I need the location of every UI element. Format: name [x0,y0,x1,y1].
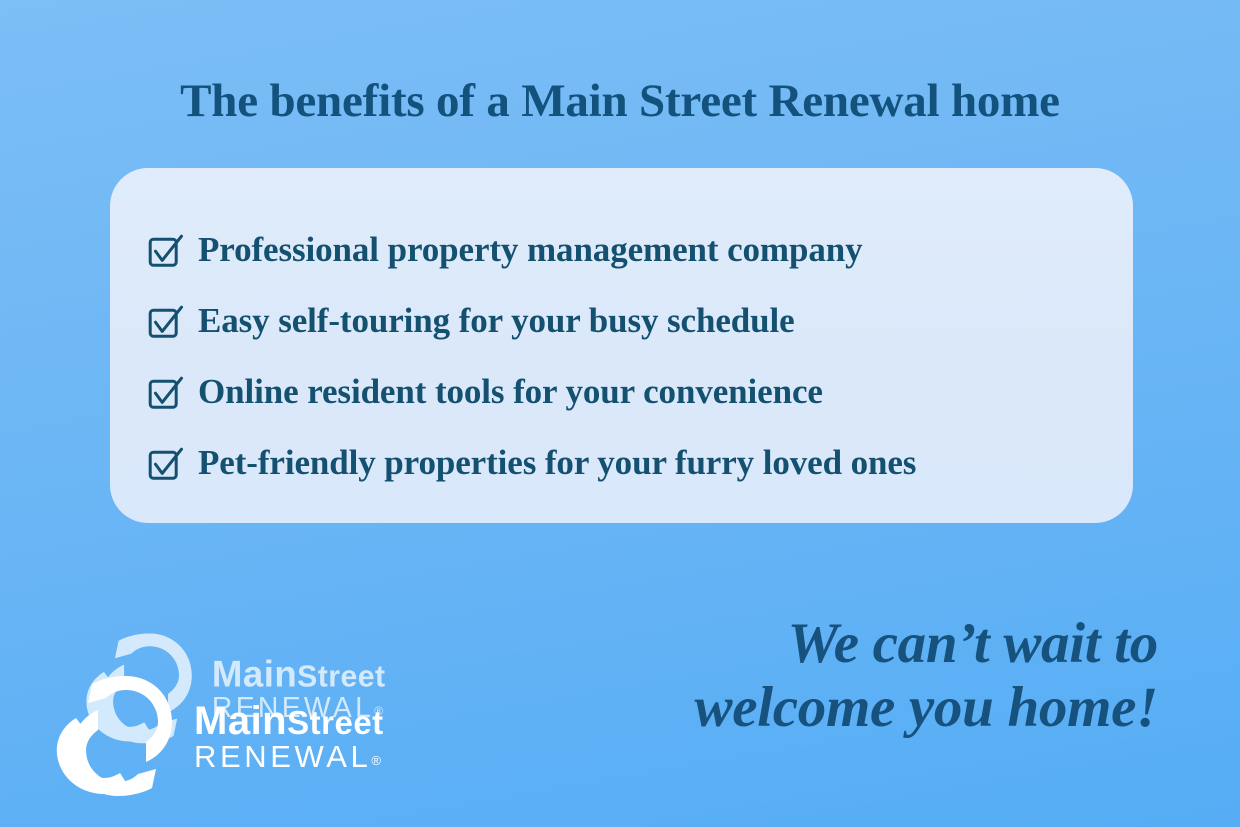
checked-box-icon [148,376,182,410]
list-item-label: Online resident tools for your convenien… [198,372,823,412]
tagline: We can’t wait to welcome you home! [538,612,1158,740]
checked-box-icon [148,305,182,339]
checked-box-icon [148,234,182,268]
checked-box-icon [148,447,182,481]
registered-trademark-mark: ® [371,753,381,768]
list-item: Easy self-touring for your busy schedule [110,285,1133,356]
list-item-label: Pet-friendly properties for your furry l… [198,443,916,483]
brand-logo: MainStreet RENEWAL® MainStreet RENEWAL® [52,628,492,788]
brand-logo-wordmark: MainStreet RENEWAL® [194,701,492,772]
brand-word-main-part: Main [194,699,287,743]
list-item: Professional property management company [110,214,1133,285]
brand-logo-word-main: MainStreet [194,699,384,743]
brand-word-street-part: Street [287,704,384,741]
list-item-label: Professional property management company [198,230,863,270]
tagline-line-1: We can’t wait to [538,612,1158,676]
benefits-card: Professional property management company… [110,168,1133,523]
list-item: Online resident tools for your convenien… [110,356,1133,427]
page-title: The benefits of a Main Street Renewal ho… [0,74,1240,128]
interlocking-spiral-arrows-icon [52,670,180,802]
brand-logo-word-sub: RENEWAL® [194,739,381,774]
list-item-label: Easy self-touring for your busy schedule [198,301,795,341]
brand-word-renewal: RENEWAL [194,739,371,774]
tagline-line-2: welcome you home! [538,676,1158,740]
list-item: Pet-friendly properties for your furry l… [110,427,1133,498]
brand-logo-front-copy: MainStreet RENEWAL® [52,670,492,802]
benefits-list: Professional property management company… [110,214,1133,498]
